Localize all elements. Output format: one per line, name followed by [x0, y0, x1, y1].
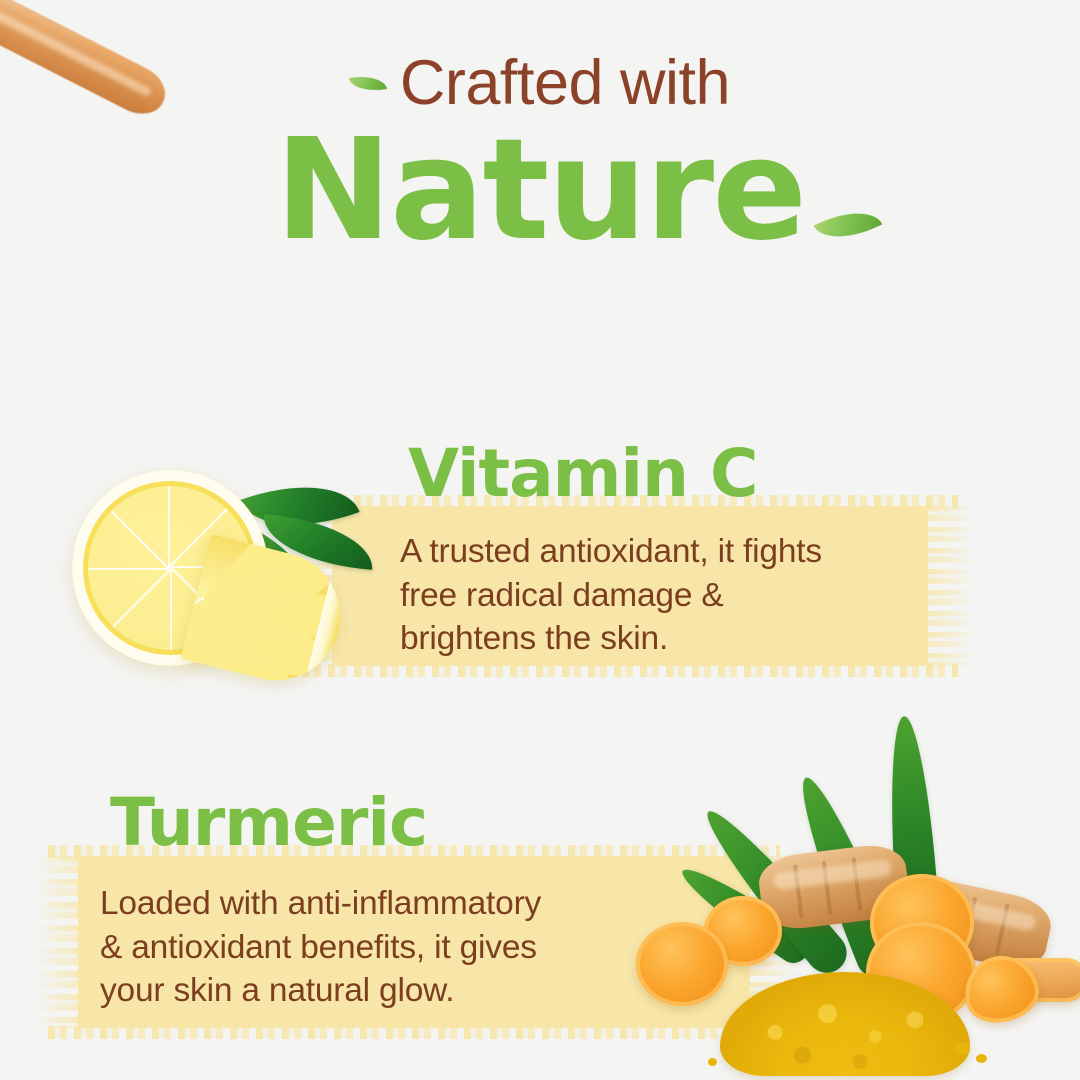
turmeric-powder-crumb — [976, 1054, 987, 1063]
headline-block: Crafted with Nature — [0, 52, 1080, 264]
ingredient-title-vitamin-c: Vitamin C — [408, 441, 757, 507]
ingredient-title-turmeric: Turmeric — [110, 790, 427, 856]
headline-line2: Nature — [275, 117, 805, 264]
ingredient-body-vitamin-c: A trusted antioxidant, it fights free ra… — [400, 530, 920, 661]
turmeric-powder-crumb — [708, 1058, 717, 1066]
turmeric-powder-crumb — [954, 1042, 970, 1055]
leaf-icon — [814, 198, 883, 253]
band-fray-bottom — [302, 664, 958, 677]
turmeric-illustration — [608, 706, 1080, 1080]
ingredient-body-turmeric: Loaded with anti-inflammatory & antioxid… — [100, 882, 660, 1013]
leaf-icon — [349, 72, 387, 94]
headline-line1: Crafted with — [400, 52, 730, 115]
lemon-illustration — [66, 462, 386, 684]
crafted-row: Crafted with — [0, 52, 1080, 115]
headline-line2-text: Nature — [275, 109, 805, 272]
poster-canvas: Crafted with Nature — [0, 0, 1080, 1080]
